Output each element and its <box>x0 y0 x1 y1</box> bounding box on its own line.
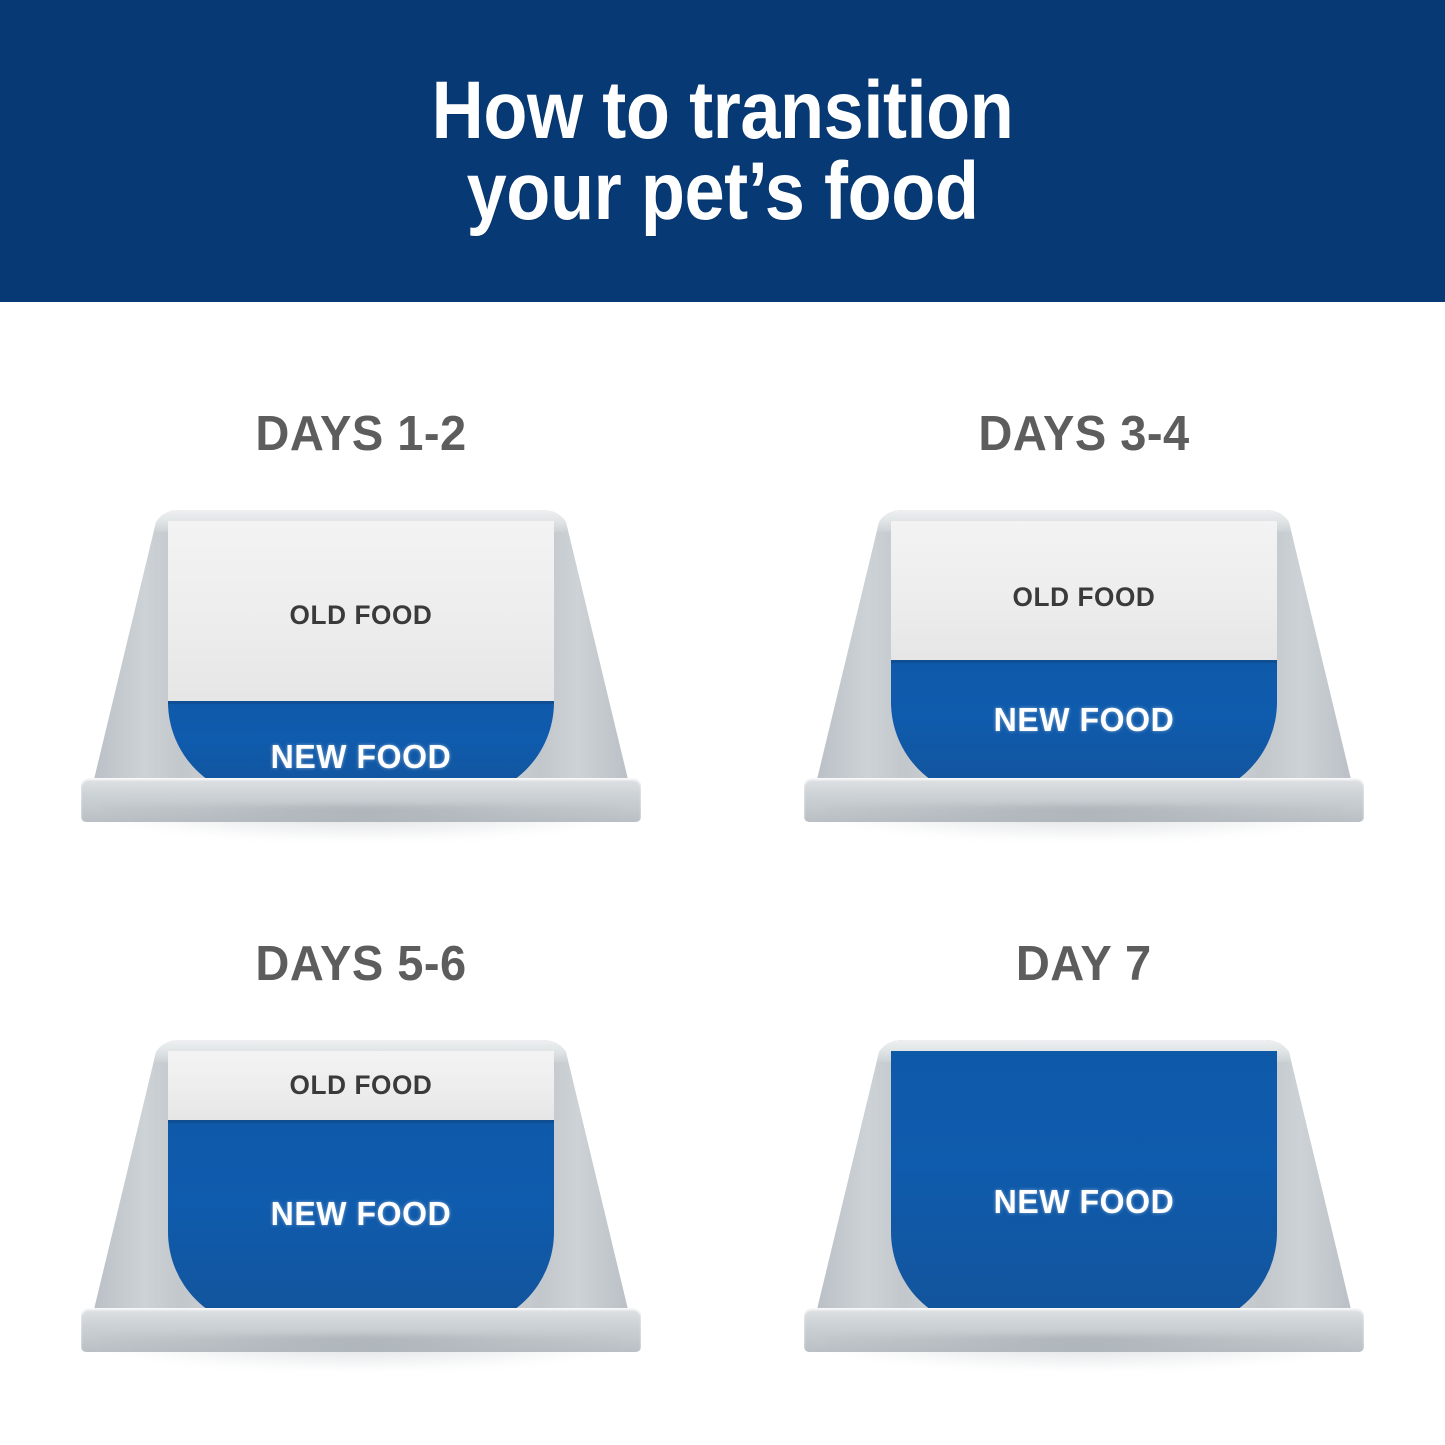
new-food-label: NEW FOOD <box>897 1183 1271 1221</box>
food-divider <box>168 1120 554 1123</box>
cavity-clip: OLD FOOD NEW FOOD <box>891 1051 1277 1328</box>
stage-card-days-1-2: DAYS 1-2 <box>0 302 723 874</box>
stage-label-days-5-6: DAYS 5-6 <box>256 936 467 992</box>
new-food-fill: NEW FOOD <box>891 1051 1277 1328</box>
page-title: How to transition your pet’s food <box>396 70 1048 232</box>
bowl-cavity: OLD FOOD NEW FOOD <box>891 1051 1277 1328</box>
new-food-label: NEW FOOD <box>897 701 1271 739</box>
stage-card-day-7: DAY 7 <box>723 874 1445 1445</box>
stage-label-days-3-4: DAYS 3-4 <box>978 406 1189 462</box>
bowl-cavity: OLD FOOD NEW FOOD <box>168 1051 554 1328</box>
bowl-shadow <box>102 1335 620 1369</box>
bowl-shadow <box>102 805 620 839</box>
stage-label-day-7: DAY 7 <box>1016 936 1152 992</box>
transition-stages-grid: DAYS 1-2 <box>0 302 1445 1445</box>
food-bowl-days-5-6: OLD FOOD NEW FOOD <box>76 1038 646 1363</box>
food-divider <box>891 660 1277 663</box>
new-food-label: NEW FOOD <box>174 738 548 776</box>
stage-label-days-1-2: DAYS 1-2 <box>256 406 467 462</box>
old-food-fill: OLD FOOD <box>168 1051 554 1120</box>
old-food-label: OLD FOOD <box>174 1070 548 1101</box>
new-food-fill: NEW FOOD <box>168 1120 554 1328</box>
old-food-fill: OLD FOOD <box>168 521 554 701</box>
bowl-shadow <box>825 805 1343 839</box>
stage-card-days-5-6: DAYS 5-6 <box>0 874 723 1445</box>
new-food-label: NEW FOOD <box>174 1195 548 1233</box>
old-food-label: OLD FOOD <box>174 600 548 631</box>
stage-card-days-3-4: DAYS 3-4 <box>723 302 1445 874</box>
bowl-cavity: OLD FOOD NEW FOOD <box>891 521 1277 798</box>
bowl-shadow <box>825 1335 1343 1369</box>
cavity-clip: OLD FOOD NEW FOOD <box>168 521 554 798</box>
old-food-label: OLD FOOD <box>897 582 1271 613</box>
cavity-clip: OLD FOOD NEW FOOD <box>168 1051 554 1328</box>
cavity-clip: OLD FOOD NEW FOOD <box>891 521 1277 798</box>
food-divider <box>168 701 554 704</box>
bowl-cavity: OLD FOOD NEW FOOD <box>168 521 554 798</box>
food-bowl-days-1-2: OLD FOOD NEW FOOD <box>76 508 646 833</box>
food-bowl-days-3-4: OLD FOOD NEW FOOD <box>799 508 1369 833</box>
food-bowl-day-7: OLD FOOD NEW FOOD <box>799 1038 1369 1363</box>
header-banner: How to transition your pet’s food <box>0 0 1445 302</box>
old-food-fill: OLD FOOD <box>891 521 1277 660</box>
